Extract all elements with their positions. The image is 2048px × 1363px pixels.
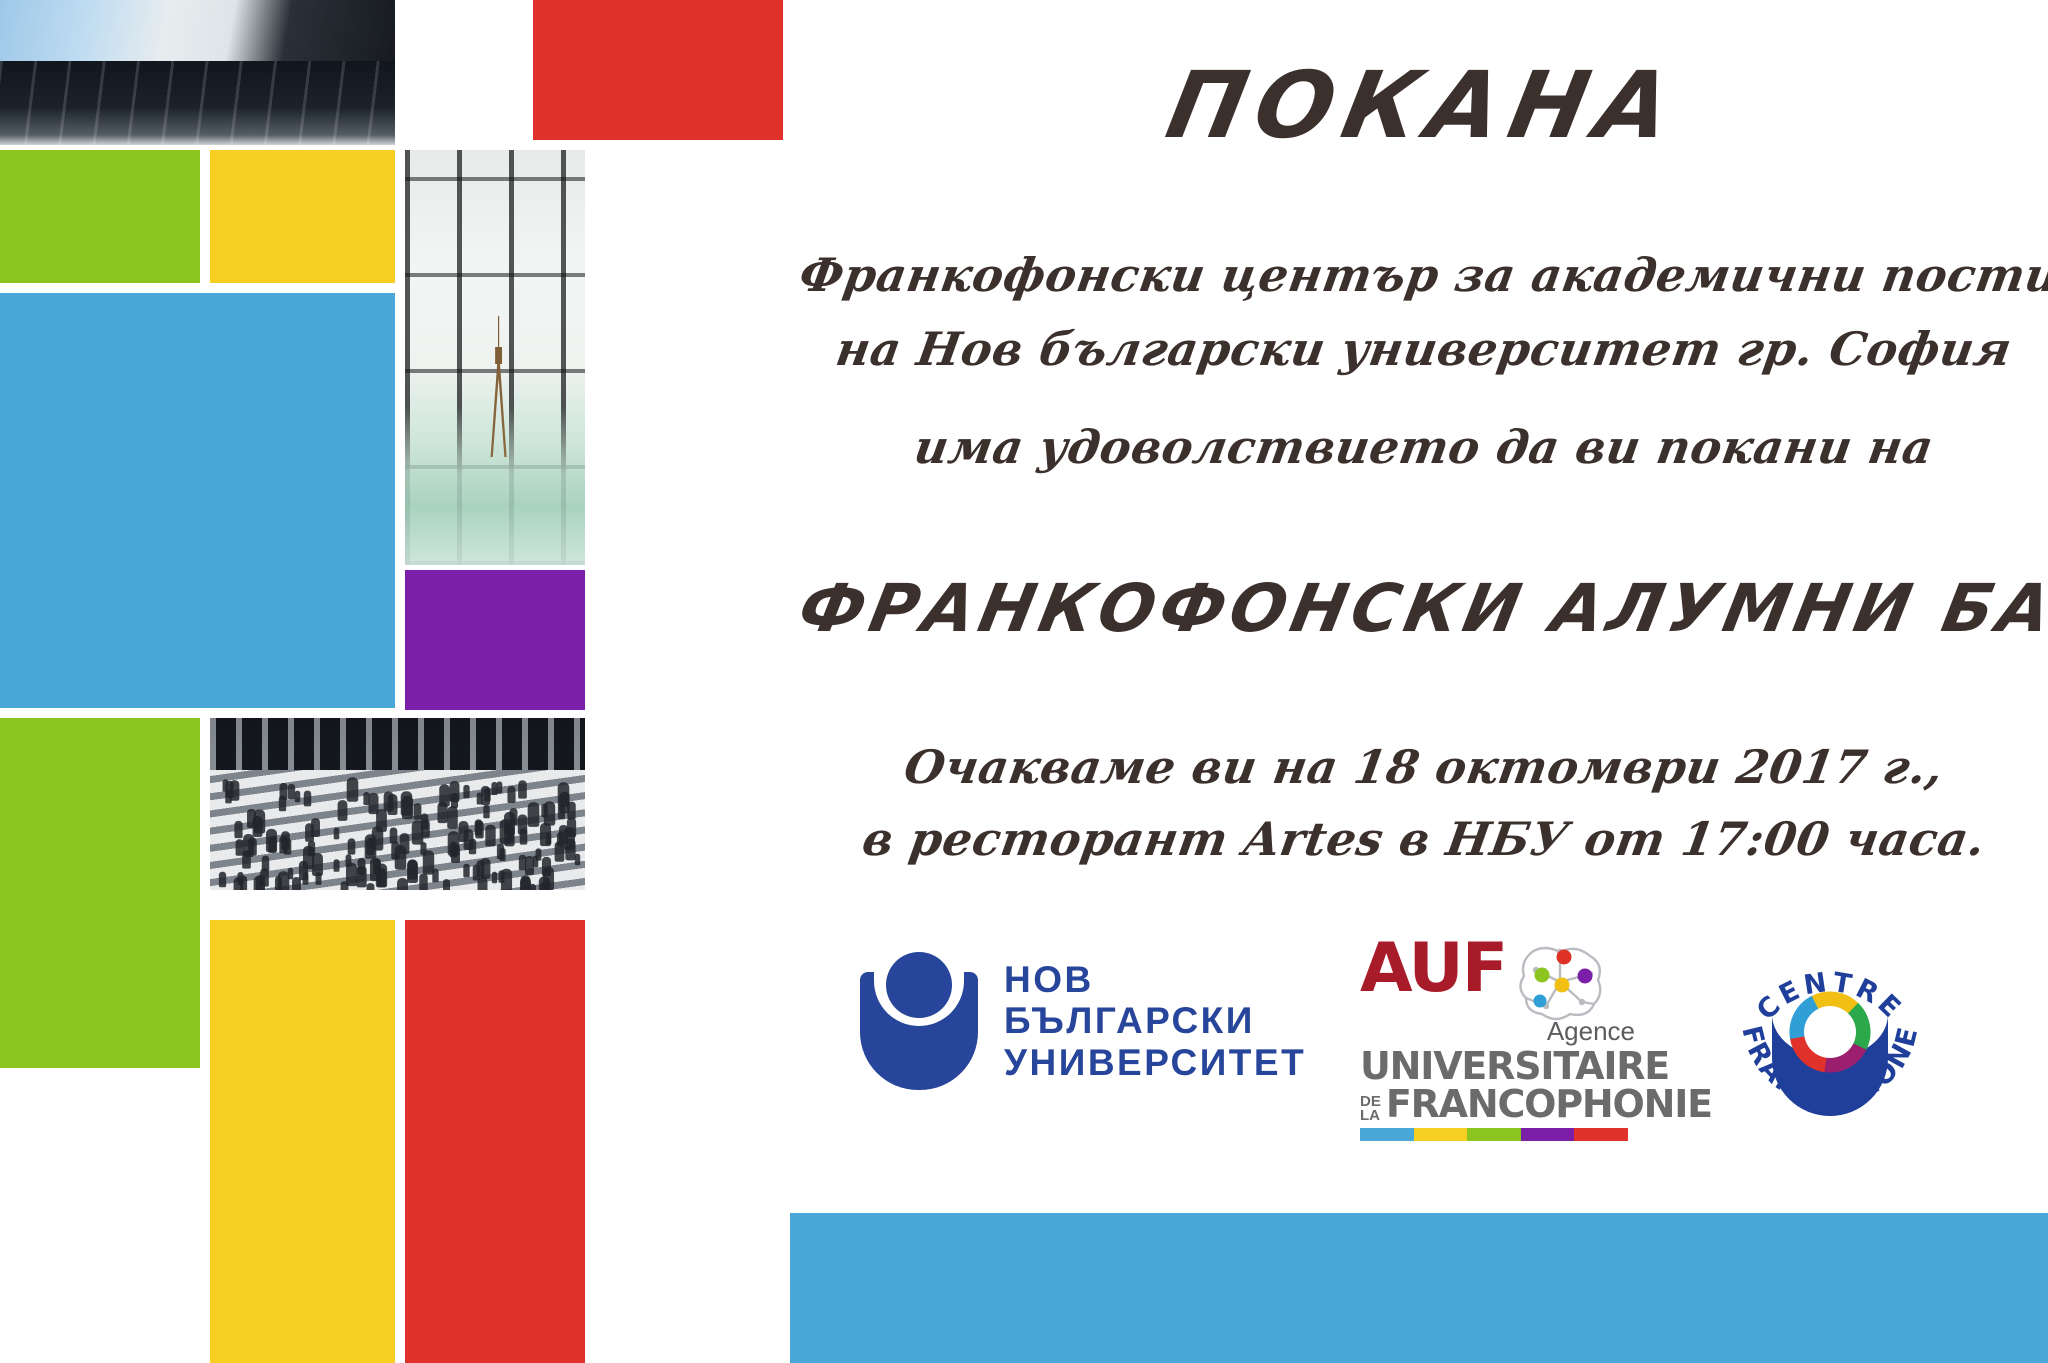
nbu-logo: НОВ БЪЛГАРСКИ УНИВЕРСИТЕТ — [860, 952, 1306, 1090]
blue-tile-large — [0, 293, 395, 708]
invitation-content: ПОКАНА Франкофонски център за академични… — [800, 0, 2048, 1363]
auf-logo: AUF — [1360, 938, 1635, 1141]
details-line-2: в ресторант Artes в НБУ от 17:00 часа. — [796, 812, 2048, 866]
auf-universitaire-label: UNIVERSITAIRE — [1360, 1047, 1635, 1085]
green-tile-2 — [0, 718, 200, 1068]
invitation-card: ПОКАНА Франкофонски център за академични… — [0, 0, 2048, 1363]
auf-network-icon — [1512, 938, 1608, 1026]
nbu-line-2: БЪЛГАРСКИ — [1004, 1000, 1306, 1041]
yellow-tile-2 — [210, 920, 395, 1363]
yellow-tile-1 — [210, 150, 395, 283]
red-tile-bottom — [405, 920, 585, 1363]
crowd-figures — [210, 718, 585, 890]
nbu-line-3: УНИВЕРСИТЕТ — [1004, 1042, 1306, 1083]
auf-francophonie-label: FRANCOPHONIE — [1386, 1085, 1712, 1123]
auf-la-label: LA — [1360, 1109, 1381, 1123]
nbu-mark-icon — [860, 952, 978, 1090]
page-title: ПОКАНА — [790, 52, 2048, 159]
auf-acronym: AUF — [1360, 938, 1506, 1001]
event-name: ФРАНКОФОНСКИ АЛУМНИ БАЛ — [793, 570, 2048, 647]
intro-line-1: Франкофонски център за академични постиж… — [796, 248, 2048, 302]
nbu-logo-text: НОВ БЪЛГАРСКИ УНИВЕРСИТЕТ — [1004, 959, 1306, 1083]
photo-tile-gallery-atrium — [405, 150, 585, 565]
red-tile-top — [533, 0, 783, 140]
auf-color-bar — [1360, 1128, 1628, 1141]
logo-row: НОВ БЪЛГАРСКИ УНИВЕРСИТЕТ AUF — [800, 930, 2048, 1160]
photo-tile-nbu-building — [0, 0, 395, 145]
photo-tile-students-steps — [210, 718, 585, 890]
details-line-1: Очакваме ви на 18 октомври 2017 г., — [796, 740, 2048, 794]
auf-dela-label: DE LA — [1360, 1095, 1381, 1124]
green-tile-1 — [0, 150, 200, 283]
intro-line-2: на Нов български университет гр. София — [796, 322, 2048, 376]
bottom-blue-band — [790, 1213, 2048, 1363]
intro-line-3: има удоволствието да ви покани на — [796, 420, 2048, 474]
centre-francophone-logo: CENTRE FRANCOPHONE — [1730, 940, 1930, 1145]
purple-tile — [405, 570, 585, 710]
nbu-line-1: НОВ — [1004, 959, 1306, 1000]
